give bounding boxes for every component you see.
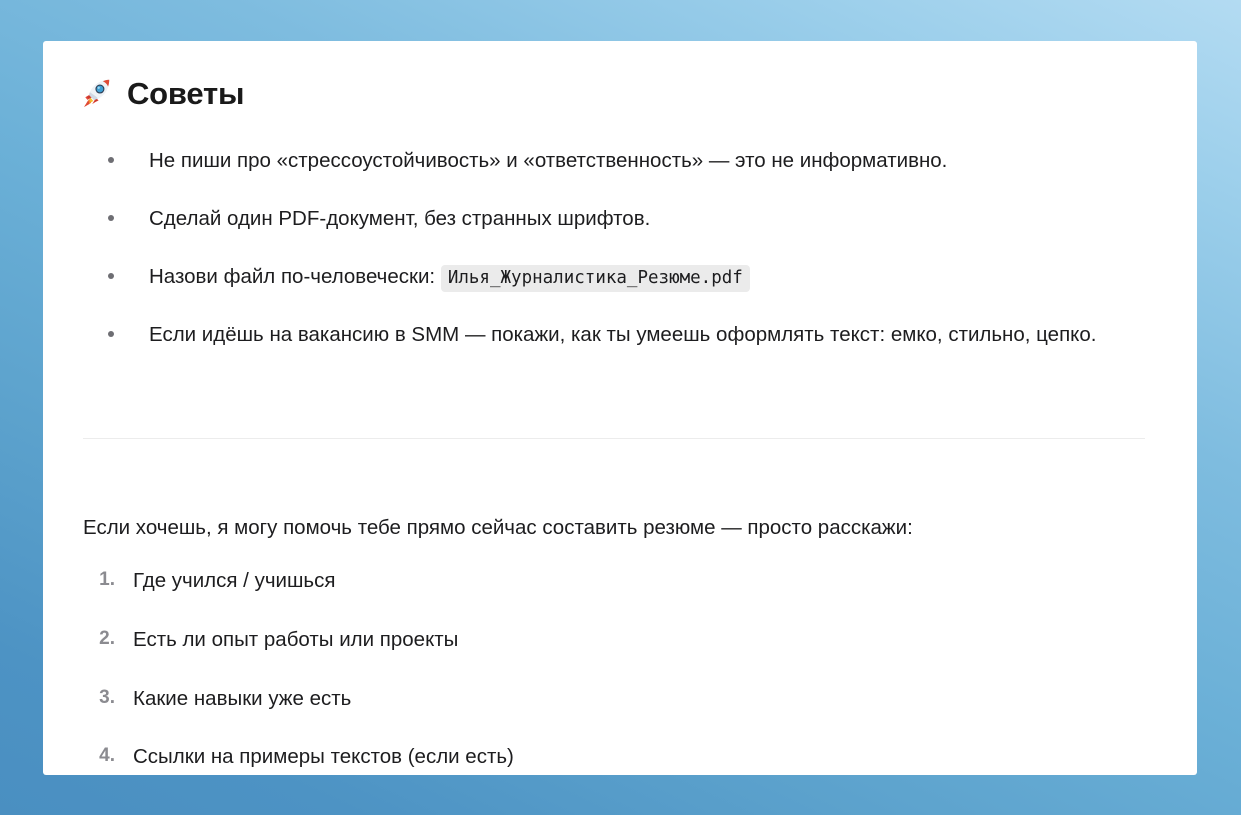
bullet-icon (108, 273, 114, 279)
filename-code: Илья_Журналистика_Резюме.pdf (441, 265, 750, 292)
content-card: Советы Не пиши про «стрессоустойчивость»… (43, 41, 1197, 775)
question-text: Ссылки на примеры текстов (если есть) (133, 745, 514, 768)
bullet-icon (108, 331, 114, 337)
tip-text: Не пиши про «стрессоустойчивость» и «отв… (149, 149, 947, 172)
list-item: Назови файл по-человечески: Илья_Журнали… (103, 261, 1178, 292)
list-marker: 2. (83, 625, 115, 654)
bullet-icon (108, 215, 114, 221)
list-item: 1. Где учился / учишься (83, 566, 1143, 597)
list-item: Не пиши про «стрессоустойчивость» и «отв… (103, 145, 1178, 176)
tips-heading: Советы (80, 76, 244, 110)
question-text: Есть ли опыт работы или проекты (133, 628, 458, 651)
tip-text: Сделай один PDF-документ, без странных ш… (149, 207, 650, 230)
tip-text: Если идёшь на вакансию в SMM — покажи, к… (149, 323, 1096, 346)
question-text: Где учился / учишься (133, 569, 335, 592)
question-text: Какие навыки уже есть (133, 687, 351, 710)
tips-heading-label: Советы (127, 78, 244, 109)
rocket-icon (80, 76, 114, 110)
bullet-icon (108, 157, 114, 163)
list-item: Если идёшь на вакансию в SMM — покажи, к… (103, 319, 1178, 350)
list-item: 3. Какие навыки уже есть (83, 684, 1143, 715)
list-marker: 4. (83, 742, 115, 771)
list-item: Сделай один PDF-документ, без странных ш… (103, 203, 1178, 234)
tip-text: Назови файл по-человечески: (149, 265, 441, 288)
list-marker: 1. (83, 566, 115, 595)
list-item: 2. Есть ли опыт работы или проекты (83, 625, 1143, 656)
section-divider (83, 438, 1145, 439)
followup-paragraph: Если хочешь, я могу помочь тебе прямо се… (83, 513, 1163, 544)
list-marker: 3. (83, 684, 115, 713)
tips-list: Не пиши про «стрессоустойчивость» и «отв… (103, 145, 1178, 351)
list-item: 4. Ссылки на примеры текстов (если есть) (83, 742, 1143, 773)
questions-list: 1. Где учился / учишься 2. Есть ли опыт … (83, 566, 1143, 773)
